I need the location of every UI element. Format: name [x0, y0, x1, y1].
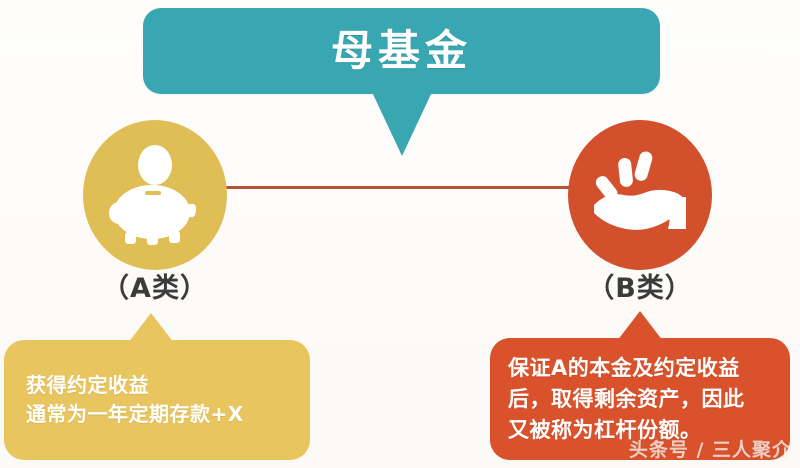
node-label-class-b: （B类）	[540, 266, 740, 305]
hand-with-coins-icon	[590, 145, 690, 245]
callout-a-pointer-triangle	[128, 313, 174, 343]
piggy-bank-icon	[107, 143, 203, 247]
parent-fund-banner: 母基金	[143, 8, 660, 94]
callout-b-line-2: 后，取得剩余资产，因此	[508, 384, 772, 415]
callout-class-a: 获得约定收益 通常为一年定期存款+X	[4, 340, 310, 460]
callout-a-line-1: 获得约定收益	[26, 371, 288, 400]
infographic-canvas: 母基金 （A类	[0, 0, 800, 468]
watermark: 头条号 / 三人聚介	[629, 435, 792, 462]
node-class-a	[83, 120, 227, 270]
banner-pointer-triangle	[372, 92, 432, 156]
callout-a-line-2: 通常为一年定期存款+X	[26, 400, 288, 429]
callout-b-line-1: 保证A的本金及约定收益	[508, 353, 772, 384]
callout-b-pointer-triangle	[617, 311, 663, 341]
node-label-class-a: （A类）	[55, 266, 255, 305]
banner-title: 母基金	[331, 30, 472, 72]
node-class-b	[568, 120, 712, 270]
